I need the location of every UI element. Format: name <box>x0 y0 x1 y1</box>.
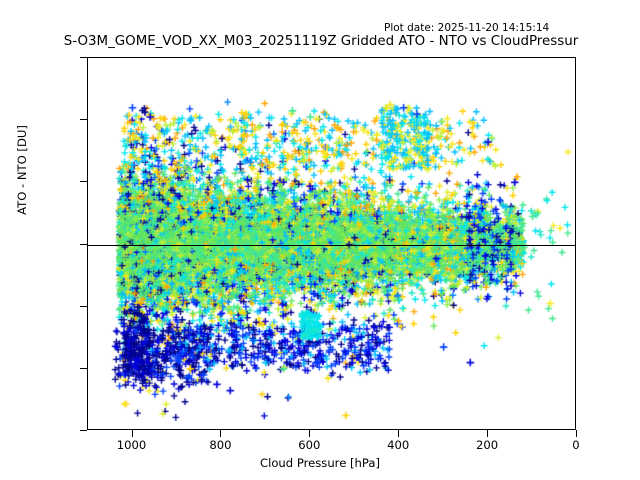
x-tick-label: 0 <box>541 440 611 452</box>
x-tick-label: 800 <box>185 440 255 452</box>
y-axis-label: ATO - NTO [DU] <box>15 70 29 270</box>
x-tick-mark <box>309 430 310 437</box>
y-tick-mark <box>80 181 87 182</box>
x-tick-label: 200 <box>452 440 522 452</box>
scatter-plot-figure: Plot date: 2025-11-20 14:15:14 S-O3M_GOM… <box>0 0 640 480</box>
page-title: S-O3M_GOME_VOD_XX_M03_20251119Z Gridded … <box>0 34 640 49</box>
zero-reference-line <box>88 245 576 246</box>
y-tick-mark <box>80 244 87 245</box>
y-tick-mark <box>80 119 87 120</box>
x-tick-label: 1000 <box>97 440 167 452</box>
y-tick-mark <box>80 430 87 431</box>
x-tick-mark <box>576 430 577 437</box>
x-tick-label: 400 <box>363 440 433 452</box>
x-tick-mark <box>220 430 221 437</box>
x-axis-label: Cloud Pressure [hPa] <box>0 456 640 470</box>
y-tick-mark <box>80 306 87 307</box>
plot-axes-area <box>87 57 576 430</box>
x-tick-mark <box>398 430 399 437</box>
x-tick-mark <box>132 430 133 437</box>
plot-title-text: S-O3M_GOME_VOD_XX_M03_20251119Z Gridded … <box>64 34 578 49</box>
y-tick-mark <box>80 57 87 58</box>
y-tick-mark <box>80 368 87 369</box>
plot-date-annotation: Plot date: 2025-11-20 14:15:14 <box>384 22 549 34</box>
x-tick-label: 600 <box>274 440 344 452</box>
x-tick-mark <box>487 430 488 437</box>
